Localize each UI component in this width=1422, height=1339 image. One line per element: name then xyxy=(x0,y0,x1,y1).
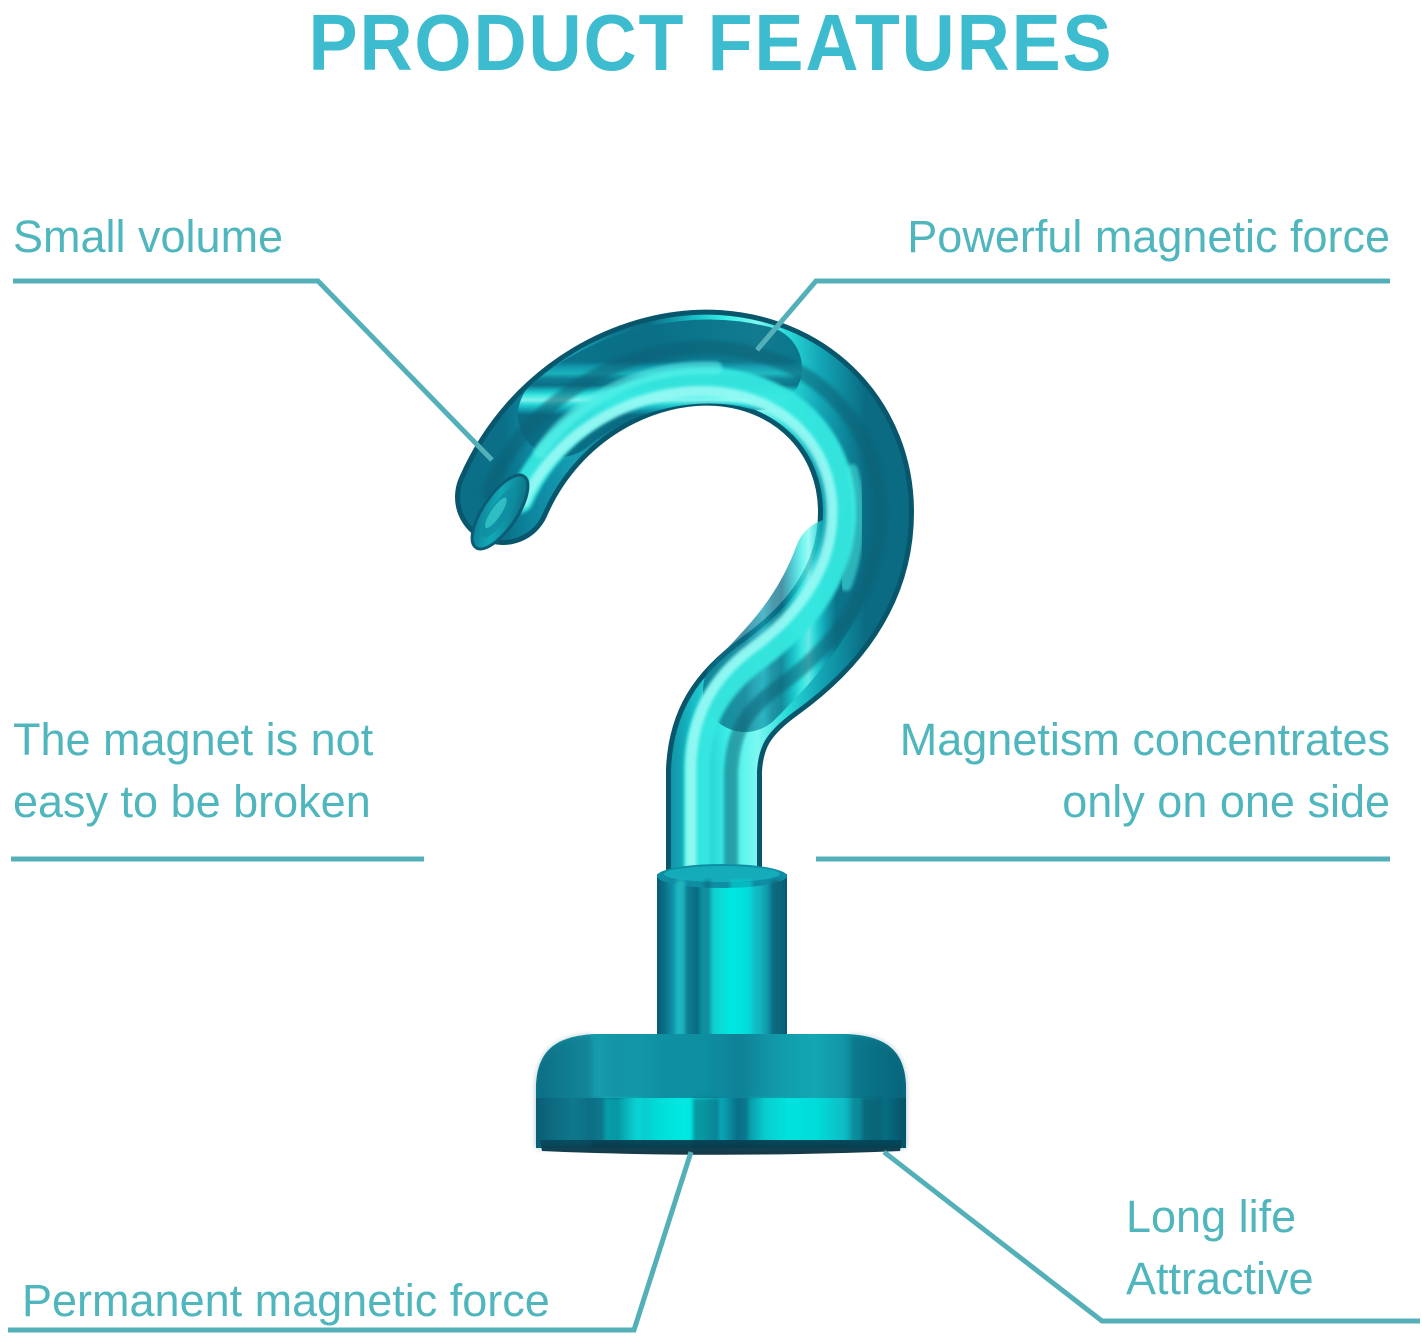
leader-permanent-magnetic-force xyxy=(8,1152,691,1330)
leader-small-volume xyxy=(13,281,492,460)
product-features-infographic: PRODUCT FEATURES xyxy=(0,0,1422,1339)
leader-lines xyxy=(0,0,1422,1339)
leader-long-life-attractive xyxy=(884,1152,1420,1321)
leader-powerful-magnetic-force xyxy=(757,281,1390,350)
